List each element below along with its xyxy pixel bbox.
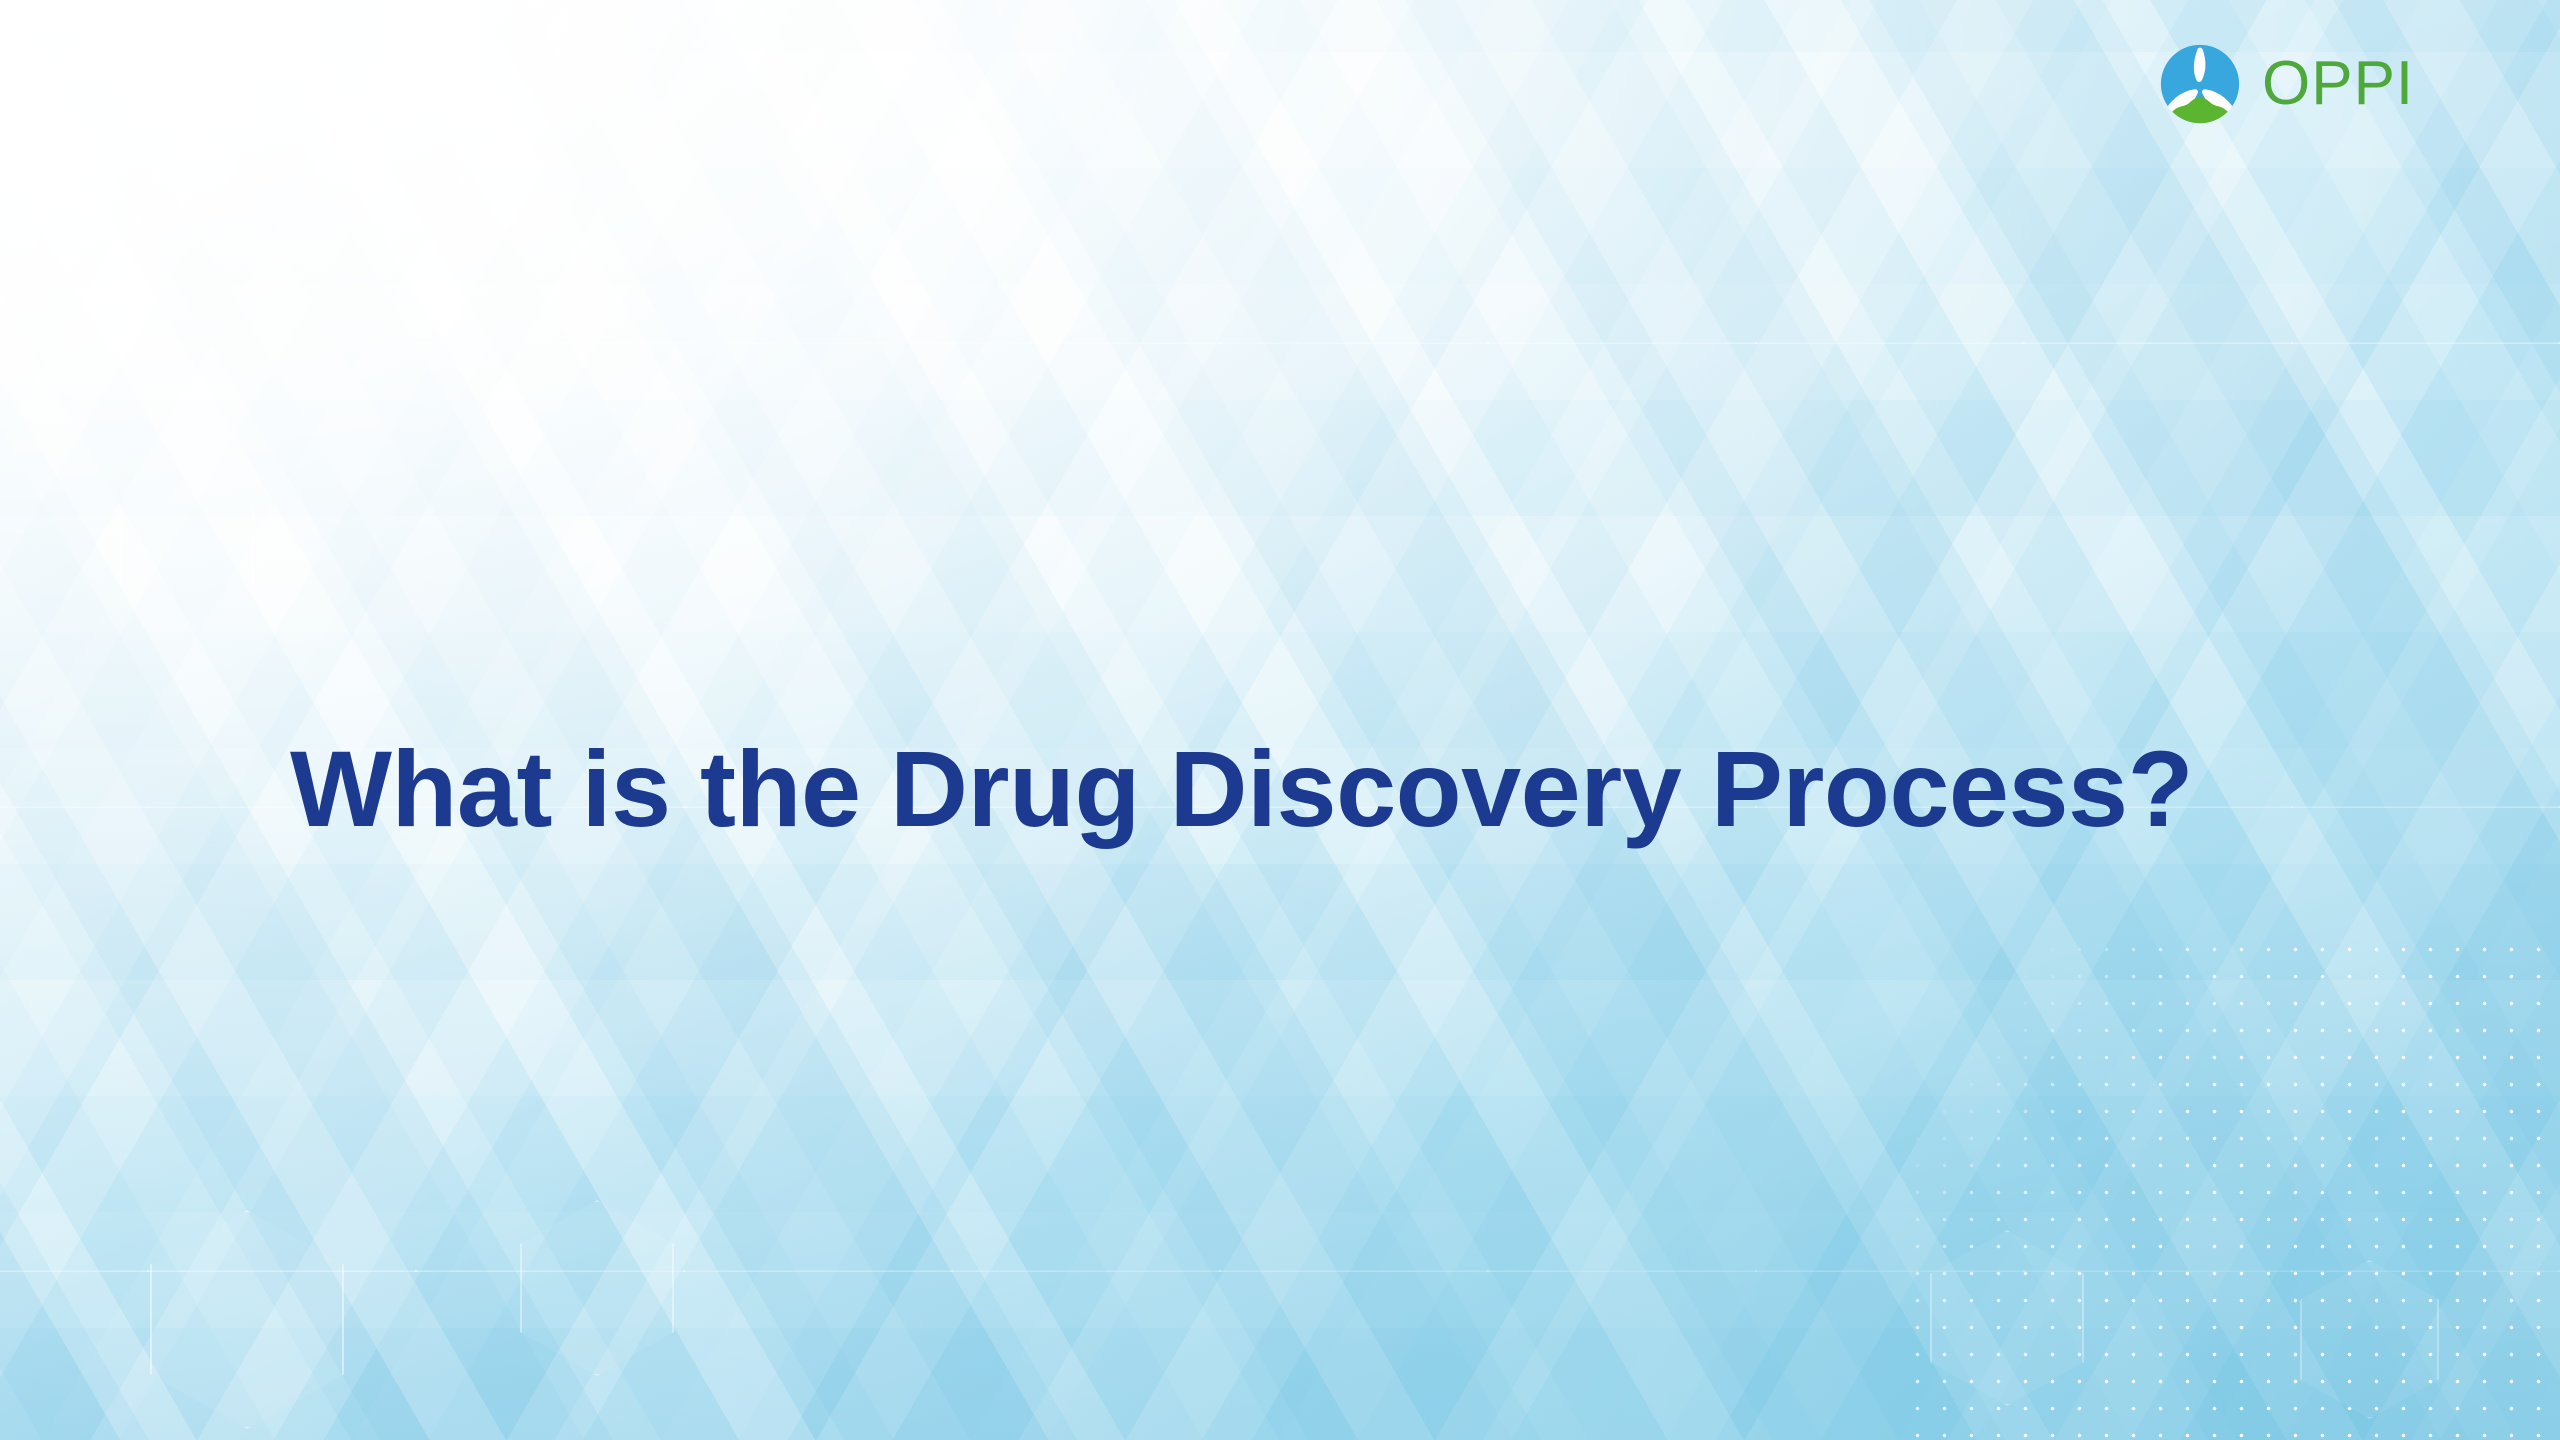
slide-title: What is the Drug Discovery Process? — [290, 730, 2290, 849]
slide-root: OPPI What is the Drug Discovery Process? — [0, 0, 2560, 1440]
title-emphasis: Drug Discovery Process — [890, 728, 2128, 849]
title-trail: ? — [2128, 728, 2193, 849]
oppi-wordmark: OPPI — [2262, 53, 2414, 115]
title-lead: What is the — [290, 728, 890, 849]
oppi-logo: OPPI — [2160, 44, 2414, 124]
oppi-trefoil-logo-icon — [2160, 44, 2240, 124]
halftone-dot-grid — [1900, 930, 2560, 1440]
